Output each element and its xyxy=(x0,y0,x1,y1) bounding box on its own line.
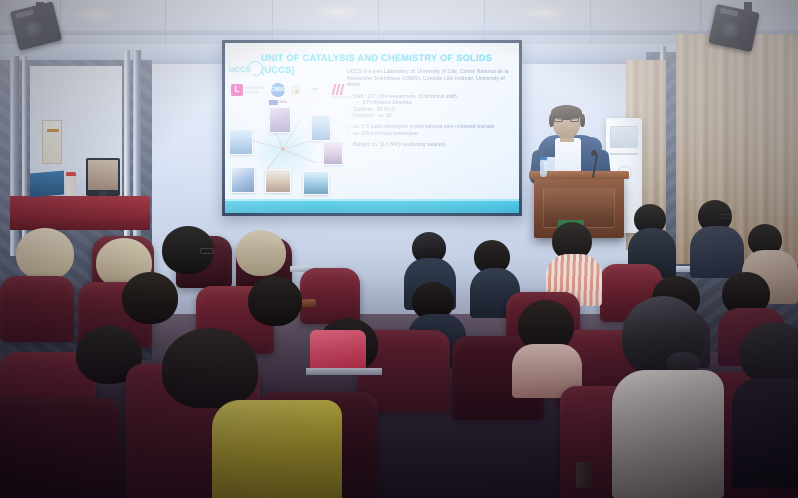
uccs-logo-mark: UCCS xyxy=(228,61,262,81)
artois-logo xyxy=(291,86,300,95)
seat xyxy=(300,268,360,324)
eyeglasses-icon xyxy=(200,248,214,254)
vertical-blinds-right xyxy=(676,34,798,264)
slide-footer-band xyxy=(225,199,519,213)
seat xyxy=(0,276,74,342)
slide-surface: UCCS UNIT OF CATALYSIS AND CHEMISTRY OF … xyxy=(225,43,519,213)
universite-de-lille-logo: L xyxy=(231,84,243,96)
eyeglasses-icon xyxy=(554,117,579,122)
slide-bullet: ca. 200 communications/year xyxy=(347,131,515,137)
microphone-head xyxy=(591,150,597,156)
paper-cup xyxy=(576,462,592,488)
pink-bag xyxy=(310,330,366,370)
slide-bullet: Postdocs : ca. 18 xyxy=(347,113,515,119)
map-photo-thumb xyxy=(265,169,291,193)
ecole-mines-logo xyxy=(333,84,348,96)
map-photo-thumb xyxy=(311,115,331,141)
head xyxy=(162,328,258,408)
head xyxy=(16,228,74,280)
ceiling-light xyxy=(310,4,364,20)
head xyxy=(740,322,798,386)
ceiling-light xyxy=(520,5,570,20)
head xyxy=(122,272,178,324)
desk-edge xyxy=(306,368,382,375)
map-photo-thumb xyxy=(229,129,253,155)
slide-body: UCCS is a joint Laboratory of: Universit… xyxy=(347,69,515,149)
projection-screen: UCCS UNIT OF CATALYSIS AND CHEMISTRY OF … xyxy=(222,40,522,216)
centrale-lille-logo: Lille xyxy=(312,87,318,91)
ceiling-light xyxy=(72,6,118,22)
head xyxy=(248,276,302,326)
map-photo-thumb xyxy=(269,107,291,133)
eyeglasses-icon xyxy=(720,214,732,219)
map-photo-thumb xyxy=(231,167,255,193)
laptop xyxy=(30,171,64,198)
slide-intro-paragraph: UCCS is a joint Laboratory of: Universit… xyxy=(347,69,515,89)
beverage-can xyxy=(66,176,76,196)
slide-map-graphic xyxy=(227,105,345,197)
torso xyxy=(612,370,724,498)
conference-photo: UCCS UNIT OF CATALYSIS AND CHEMISTRY OF … xyxy=(0,0,798,498)
slide-bullet-list: Staff : 137 (104 researchers, 33 technic… xyxy=(347,94,515,149)
torso xyxy=(212,400,342,498)
cnrs-logo: CNRS xyxy=(271,83,285,97)
map-photo-thumb xyxy=(303,171,329,195)
head xyxy=(236,230,286,276)
monitor xyxy=(86,158,120,196)
slide-bullet: Budget: ca. 11.5 M€/y (excluding salarie… xyxy=(347,142,515,148)
control-table xyxy=(10,196,150,230)
torso xyxy=(690,226,744,278)
torso xyxy=(732,378,798,488)
universite-de-lille-caption: UNIVERSITE DE LILLE xyxy=(245,86,267,94)
map-photo-thumb xyxy=(323,141,343,165)
water-bottle xyxy=(540,160,547,177)
wall-poster xyxy=(42,120,62,164)
seat xyxy=(0,398,120,498)
